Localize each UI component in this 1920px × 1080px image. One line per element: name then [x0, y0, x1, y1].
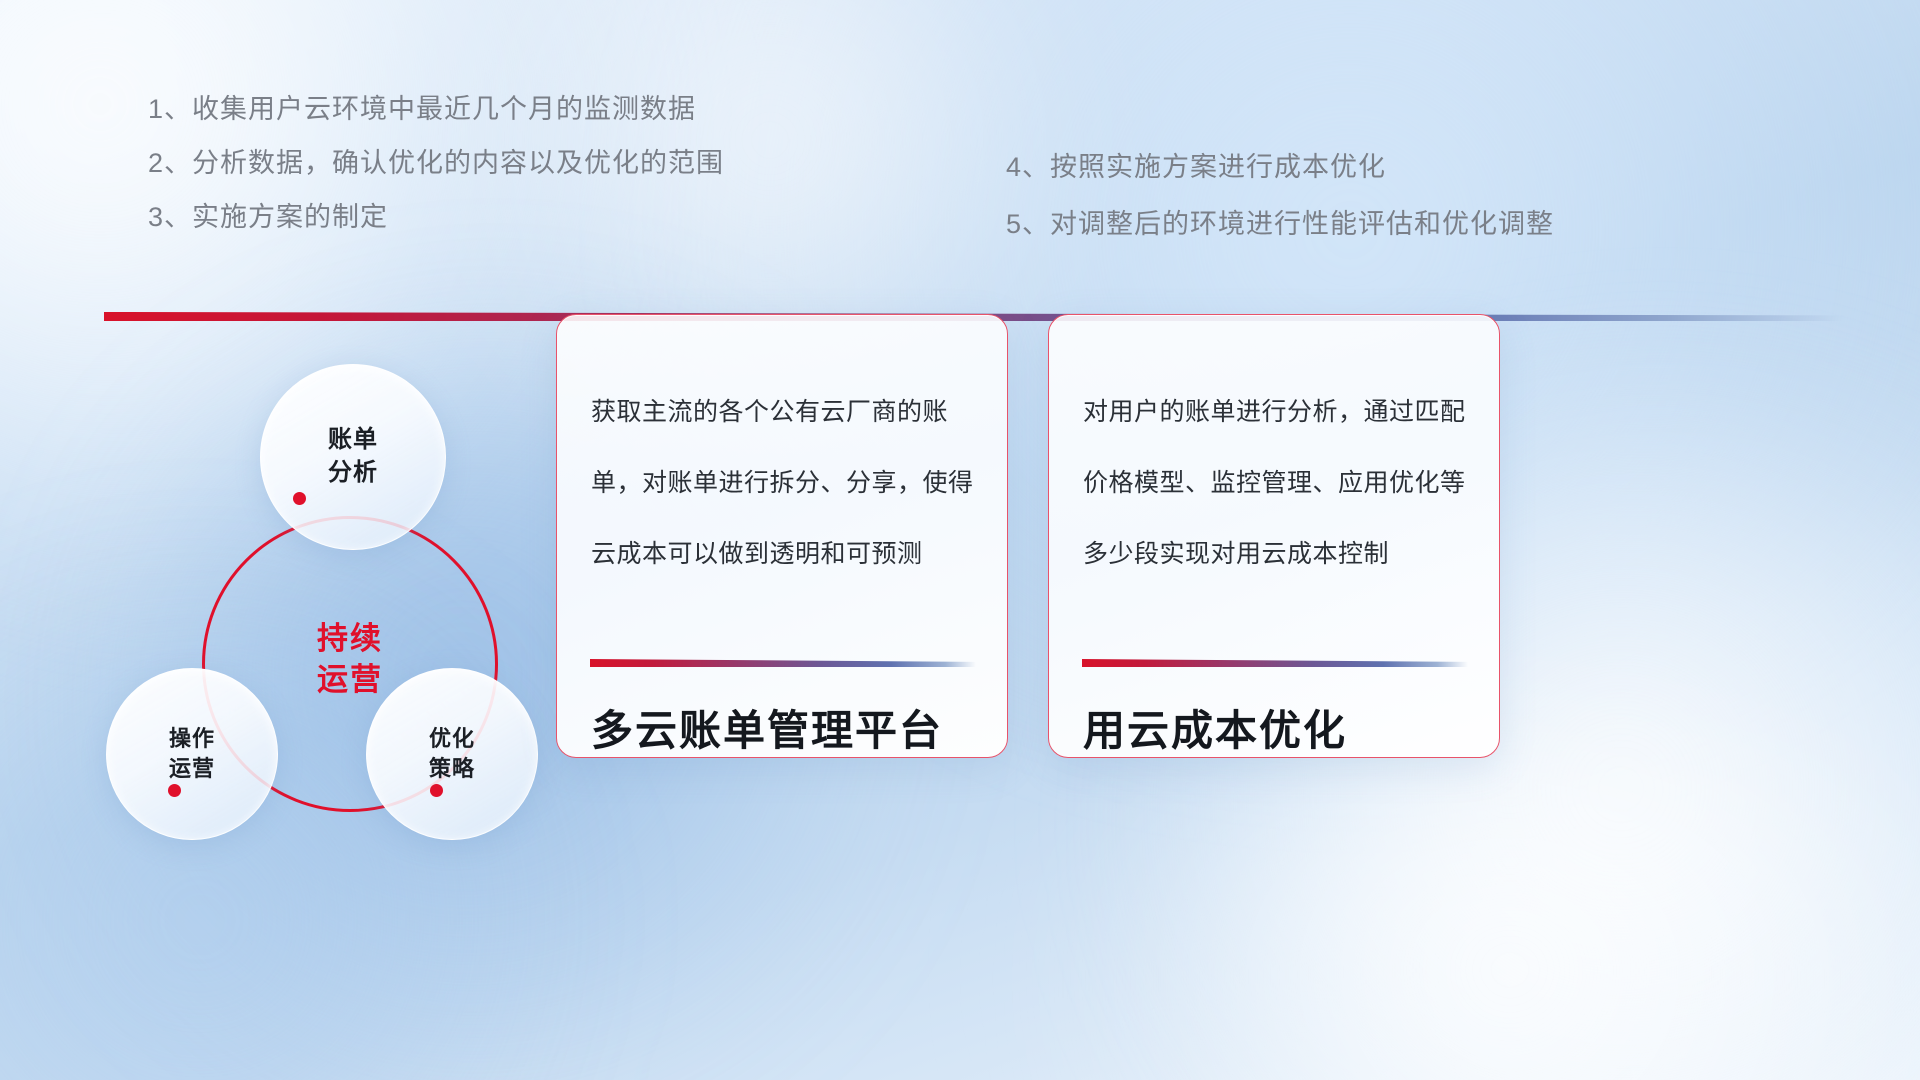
venn-node-dot-top — [293, 492, 306, 505]
card-multi-cloud-billing-platform[interactable]: 获取主流的各个公有云厂商的账单，对账单进行拆分、分享，使得云成本可以做到透明和可… — [556, 314, 1008, 758]
card-divider-bar — [1082, 659, 1468, 667]
card-body-text: 获取主流的各个公有云厂商的账单，对账单进行拆分、分享，使得云成本可以做到透明和可… — [591, 377, 987, 590]
venn-bubble-billing-analysis[interactable]: 账单 分析 — [260, 364, 446, 550]
card-cloud-cost-optimization[interactable]: 对用户的账单进行分析，通过匹配价格模型、监控管理、应用优化等多少段实现对用云成本… — [1048, 314, 1500, 758]
venn-diagram: 账单 分析 操作 运营 优化 策略 持续 运营 — [96, 352, 636, 922]
card-divider-bar — [590, 659, 976, 667]
steps-column-right: 4、按照实施方案进行成本优化 5、对调整后的环境进行性能评估和优化调整 — [1006, 154, 1554, 268]
venn-bubble-line-2: 分析 — [328, 457, 378, 490]
venn-center-label: 持续 运营 — [317, 619, 383, 701]
step-item-5: 5、对调整后的环境进行性能评估和优化调整 — [1006, 211, 1554, 238]
step-item-4: 4、按照实施方案进行成本优化 — [1006, 154, 1554, 181]
steps-column-left: 1、收集用户云环境中最近几个月的监测数据 2、分析数据，确认优化的内容以及优化的… — [148, 96, 724, 258]
card-body-text: 对用户的账单进行分析，通过匹配价格模型、监控管理、应用优化等多少段实现对用云成本… — [1083, 377, 1479, 590]
card-divider — [590, 659, 976, 667]
venn-bubble-label: 账单 分析 — [328, 424, 378, 489]
step-item-2: 2、分析数据，确认优化的内容以及优化的范围 — [148, 150, 724, 177]
venn-bubble-line-2: 运营 — [169, 754, 215, 784]
card-divider — [1082, 659, 1468, 667]
card-title: 多云账单管理平台 — [591, 697, 943, 758]
venn-center-line-1: 持续 — [317, 619, 383, 660]
venn-center: 持续 运营 — [202, 580, 498, 740]
card-title: 用云成本优化 — [1083, 697, 1347, 758]
venn-node-dot-bottom-right — [430, 784, 443, 797]
step-item-3: 3、实施方案的制定 — [148, 204, 724, 231]
venn-center-line-2: 运营 — [317, 660, 383, 701]
step-item-1: 1、收集用户云环境中最近几个月的监测数据 — [148, 96, 724, 123]
venn-node-dot-bottom-left — [168, 784, 181, 797]
venn-bubble-line-1: 账单 — [328, 424, 378, 457]
venn-bubble-line-2: 策略 — [429, 754, 475, 784]
